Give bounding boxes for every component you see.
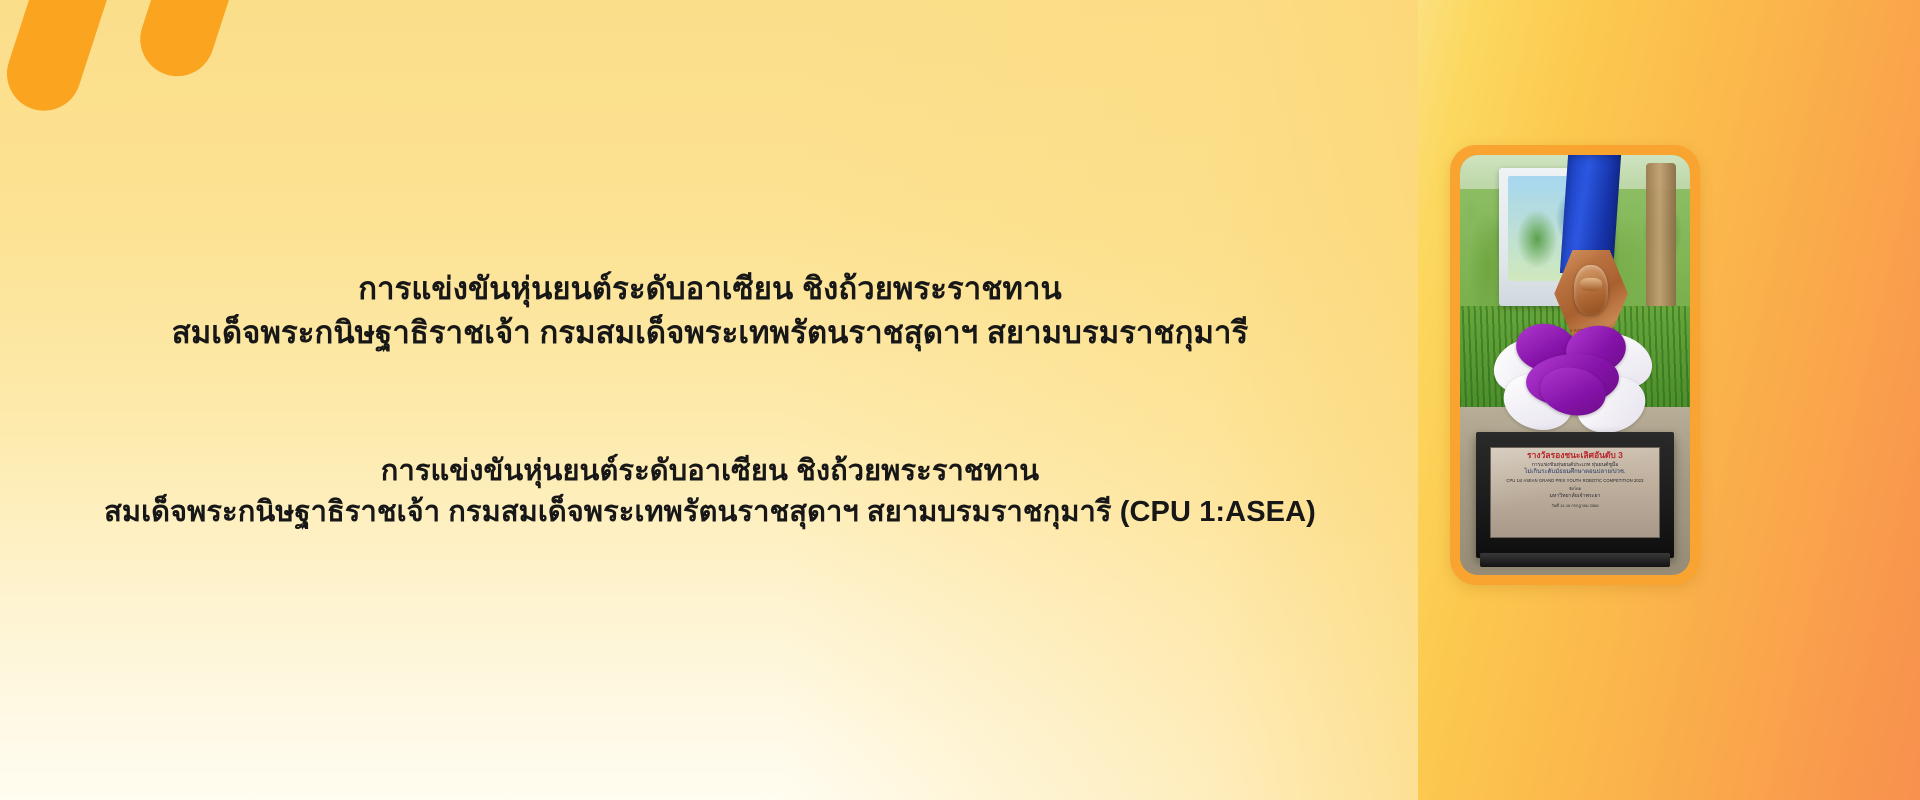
trophy-base: รางวัลรองชนะเลิศอันดับ 3 การแข่งขันหุ่นย… xyxy=(1476,432,1674,558)
headline-line-1: การแข่งขันหุ่นยนต์ระดับอาเซียน ชิงถ้วยพร… xyxy=(172,267,1249,311)
plaque-title: รางวัลรองชนะเลิศอันดับ 3 xyxy=(1494,451,1656,460)
plaque-line-1: การแข่งขันหุ่นยนต์ประเภท หุ่นยนต์ชูมือ xyxy=(1494,462,1656,468)
photo-scene: CPU ASEAN GRAND PRIX รางวัลรองชนะเลิศอัน… xyxy=(1460,155,1690,575)
plaque-date: วันที่ 14-16 กรกฎาคม 2566 xyxy=(1494,502,1656,509)
award-banner: การแข่งขันหุ่นยนต์ระดับอาเซียน ชิงถ้วยพร… xyxy=(0,0,1920,800)
headline-line-2: สมเด็จพระกนิษฐาธิราชเจ้า กรมสมเด็จพระเทพ… xyxy=(172,311,1249,355)
award-photo: CPU ASEAN GRAND PRIX รางวัลรองชนะเลิศอัน… xyxy=(1460,155,1690,575)
subheading-line-1: การแข่งขันหุ่นยนต์ระดับอาเซียน ชิงถ้วยพร… xyxy=(104,451,1316,492)
plaque-line-2: ไม่เกินระดับมัธยมศึกษาตอนปลาย/ปวช. xyxy=(1494,469,1656,477)
ribbon-bow xyxy=(1490,319,1656,437)
trophy-base-foot xyxy=(1480,553,1670,567)
page-title: การแข่งขันหุ่นยนต์ระดับอาเซียน ชิงถ้วยพร… xyxy=(172,267,1249,355)
plaque-organizer: มหาวิทยาลัยเจ้าพระยา xyxy=(1494,492,1656,500)
plaque-by-label: จัดโดย xyxy=(1494,485,1656,492)
plaque-line-english: CPU 1st ASEAN GRAND PRIX YOUTH ROBOTIC C… xyxy=(1494,478,1656,483)
medal-robot-visor xyxy=(1580,278,1602,291)
page-subtitle: การแข่งขันหุ่นยนต์ระดับอาเซียน ชิงถ้วยพร… xyxy=(104,451,1316,533)
award-plaque: รางวัลรองชนะเลิศอันดับ 3 การแข่งขันหุ่นย… xyxy=(1490,447,1660,538)
text-content: การแข่งขันหุ่นยนต์ระดับอาเซียน ชิงถ้วยพร… xyxy=(0,0,1420,800)
subheading-line-2: สมเด็จพระกนิษฐาธิราชเจ้า กรมสมเด็จพระเทพ… xyxy=(104,492,1316,533)
medal-robot-figure xyxy=(1574,265,1608,314)
award-photo-card: CPU ASEAN GRAND PRIX รางวัลรองชนะเลิศอัน… xyxy=(1450,145,1700,585)
